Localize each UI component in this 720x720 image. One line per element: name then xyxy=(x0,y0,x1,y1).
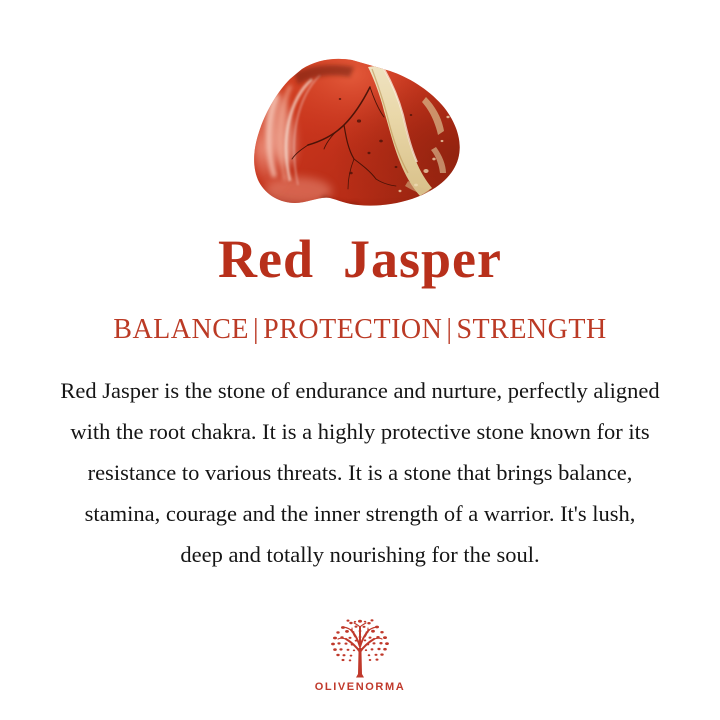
description-line: Red Jasper is the stone of endurance and… xyxy=(10,370,710,411)
keyword-separator-2: | xyxy=(442,314,456,345)
description-line: stamina, courage and the inner strength … xyxy=(10,493,710,534)
description-line: resistance to various threats. It is a s… xyxy=(10,452,710,493)
keyword-separator-1: | xyxy=(249,314,263,345)
description-paragraph: Red Jasper is the stone of endurance and… xyxy=(10,370,710,575)
page-title: Red Jasper xyxy=(218,232,502,286)
brand-logo: OLIVENORMA xyxy=(0,618,720,693)
keyword-protection: PROTECTION xyxy=(263,314,442,345)
description-line: deep and totally nourishing for the soul… xyxy=(10,534,710,575)
red-jasper-info-card: Red Jasper BALANCE|PROTECTION|STRENGTH R… xyxy=(0,0,720,720)
red-jasper-stone-illustration xyxy=(250,55,470,215)
hero-image-area xyxy=(0,0,720,232)
keyword-strength: STRENGTH xyxy=(456,314,606,345)
description-line: with the root chakra. It is a highly pro… xyxy=(10,411,710,452)
keyword-line: BALANCE|PROTECTION|STRENGTH xyxy=(113,316,606,344)
keyword-balance: BALANCE xyxy=(113,314,249,345)
brand-wordmark: OLIVENORMA xyxy=(315,682,406,693)
tree-icon xyxy=(327,618,393,680)
stone-image xyxy=(250,55,470,215)
